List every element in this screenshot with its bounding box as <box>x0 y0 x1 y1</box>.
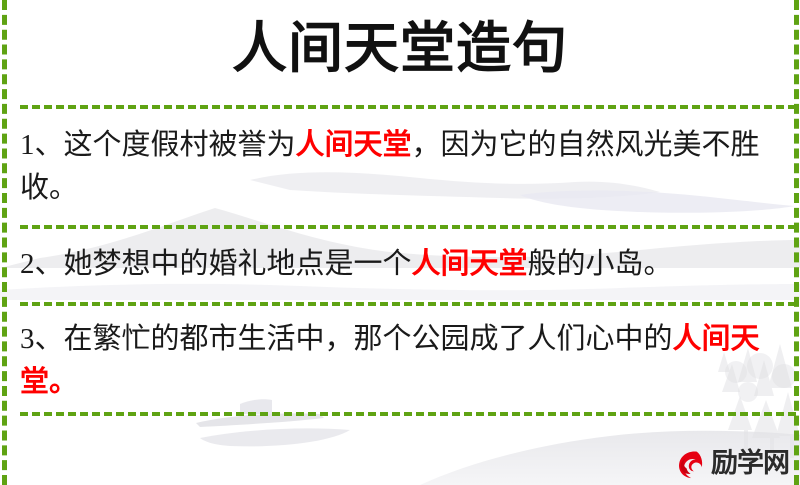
sentence-item-3: 3、在繁忙的都市生活中，那个公园成了人们心中的人间天堂。 <box>20 318 772 404</box>
separator-4 <box>20 412 796 416</box>
site-logo[interactable]: 励学网 <box>672 443 796 485</box>
sentence-3-index: 3、 <box>20 323 64 355</box>
site-logo-text: 励学网 <box>711 449 789 479</box>
sentence-item-2: 2、她梦想中的婚礼地点是一个人间天堂般的小岛。 <box>20 243 772 286</box>
sentence-1-keyword: 人间天堂 <box>296 129 412 161</box>
sentence-2-part-1: 她梦想中的婚礼地点是一个 <box>64 248 412 280</box>
sentence-3-part-3: 。 <box>49 366 78 398</box>
swirl-flame-icon <box>672 446 708 482</box>
page-title: 人间天堂造句 <box>0 12 800 84</box>
separator-2 <box>20 225 796 229</box>
sentence-1-index: 1、 <box>20 129 64 161</box>
separator-3 <box>20 302 796 306</box>
sentence-2-part-3: 般的小岛。 <box>528 248 673 280</box>
separator-1 <box>20 105 796 109</box>
sentence-item-1: 1、这个度假村被誉为人间天堂，因为它的自然风光美不胜收。 <box>20 124 772 210</box>
sentence-3-part-1: 在繁忙的都市生活中，那个公园成了人们心中的 <box>64 323 673 355</box>
sentence-1-part-1: 这个度假村被誉为 <box>64 129 296 161</box>
page-root: 人间天堂造句 1、这个度假村被誉为人间天堂，因为它的自然风光美不胜收。 2、她梦… <box>0 0 800 485</box>
sentence-2-index: 2、 <box>20 248 64 280</box>
sentence-2-keyword: 人间天堂 <box>412 248 528 280</box>
